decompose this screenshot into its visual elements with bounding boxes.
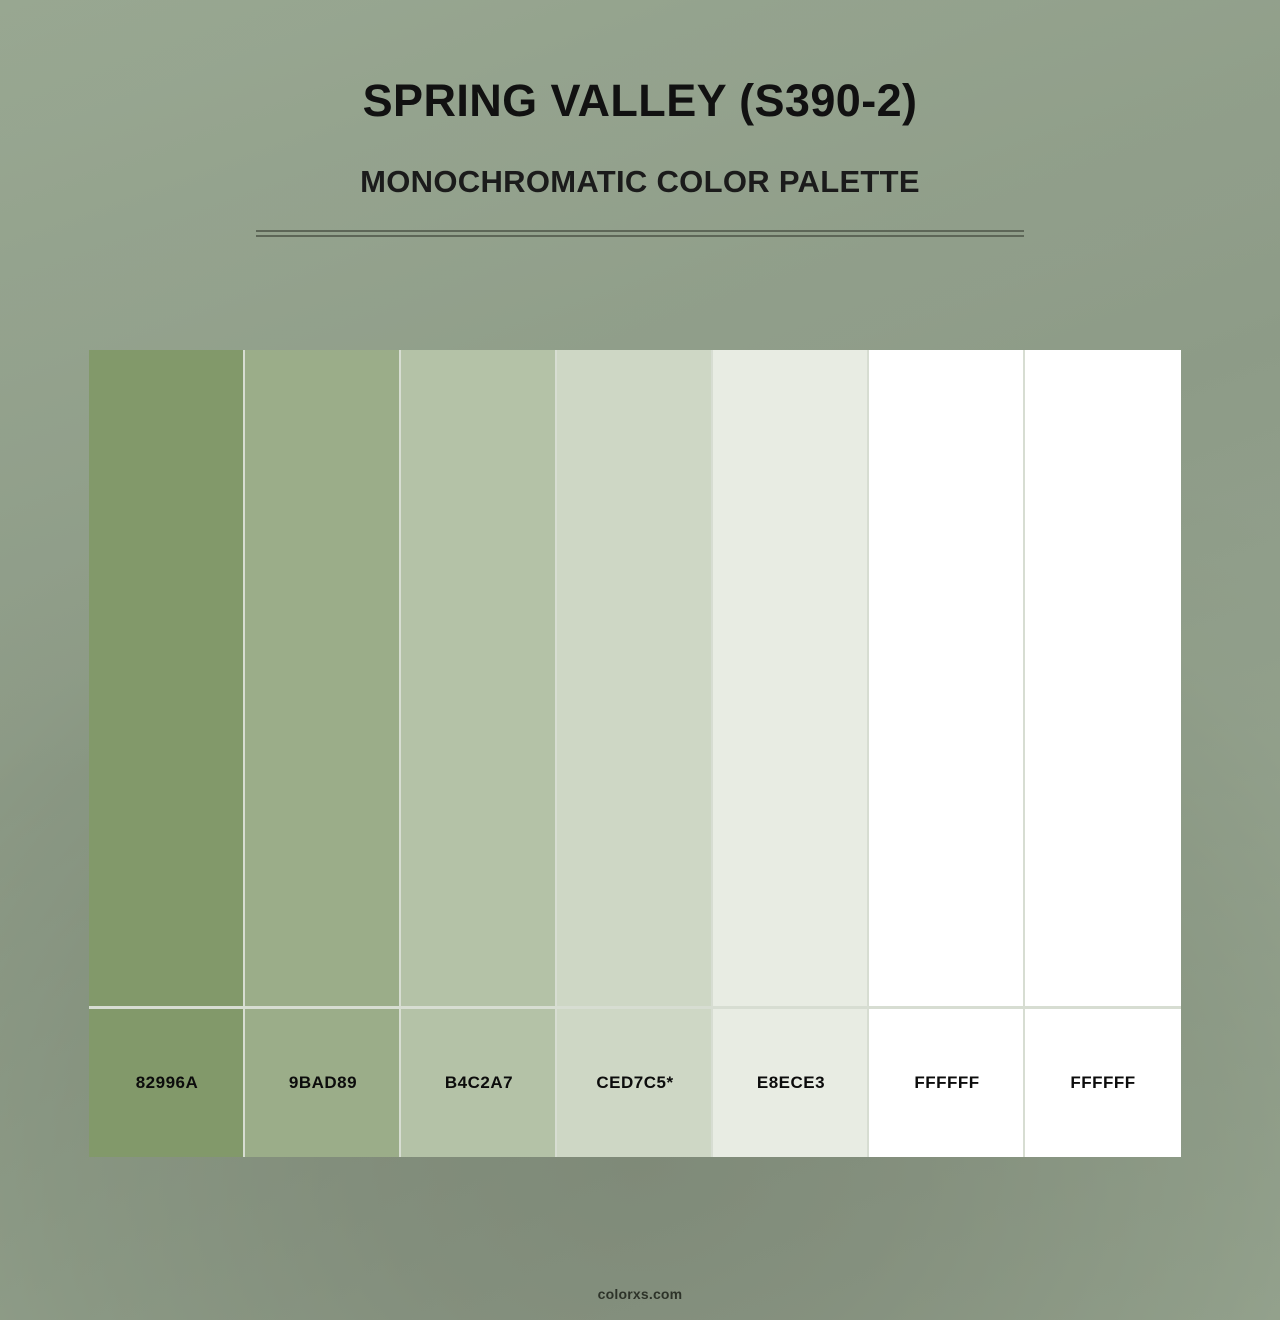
color-swatch-label-cell[interactable]: 9BAD89 <box>245 1009 401 1157</box>
swatch-row <box>89 350 1181 1006</box>
color-hex-label: 9BAD89 <box>289 1073 357 1093</box>
page-subtitle: MONOCHROMATIC COLOR PALETTE <box>0 165 1280 200</box>
color-hex-label: FFFFFF <box>914 1073 979 1093</box>
color-swatch[interactable] <box>1025 350 1181 1006</box>
footer: colorxs.com <box>0 1286 1280 1304</box>
color-palette-panel: 82996A9BAD89B4C2A7CED7C5*E8ECE3FFFFFFFFF… <box>89 350 1181 1157</box>
color-swatch-label-cell[interactable]: B4C2A7 <box>401 1009 557 1157</box>
color-swatch[interactable] <box>401 350 557 1006</box>
header-divider <box>256 230 1024 237</box>
palette-page: SPRING VALLEY (S390-2) MONOCHROMATIC COL… <box>0 0 1280 1320</box>
color-swatch[interactable] <box>245 350 401 1006</box>
color-swatch-label-cell[interactable]: FFFFFF <box>1025 1009 1181 1157</box>
site-credit: colorxs.com <box>598 1286 683 1302</box>
color-swatch[interactable] <box>869 350 1025 1006</box>
color-hex-label: FFFFFF <box>1070 1073 1135 1093</box>
divider-rule-top <box>256 230 1024 232</box>
color-hex-label: 82996A <box>136 1073 199 1093</box>
color-swatch[interactable] <box>557 350 713 1006</box>
divider-rule-bottom <box>256 235 1024 237</box>
color-swatch-label-cell[interactable]: CED7C5* <box>557 1009 713 1157</box>
color-hex-label: B4C2A7 <box>445 1073 513 1093</box>
color-swatch-label-cell[interactable]: FFFFFF <box>869 1009 1025 1157</box>
color-swatch-label-cell[interactable]: E8ECE3 <box>713 1009 869 1157</box>
page-title: SPRING VALLEY (S390-2) <box>0 76 1280 126</box>
label-row: 82996A9BAD89B4C2A7CED7C5*E8ECE3FFFFFFFFF… <box>89 1009 1181 1157</box>
color-swatch-label-cell[interactable]: 82996A <box>89 1009 245 1157</box>
color-swatch[interactable] <box>89 350 245 1006</box>
color-swatch[interactable] <box>713 350 869 1006</box>
color-hex-label: CED7C5* <box>596 1073 673 1093</box>
color-hex-label: E8ECE3 <box>757 1073 825 1093</box>
